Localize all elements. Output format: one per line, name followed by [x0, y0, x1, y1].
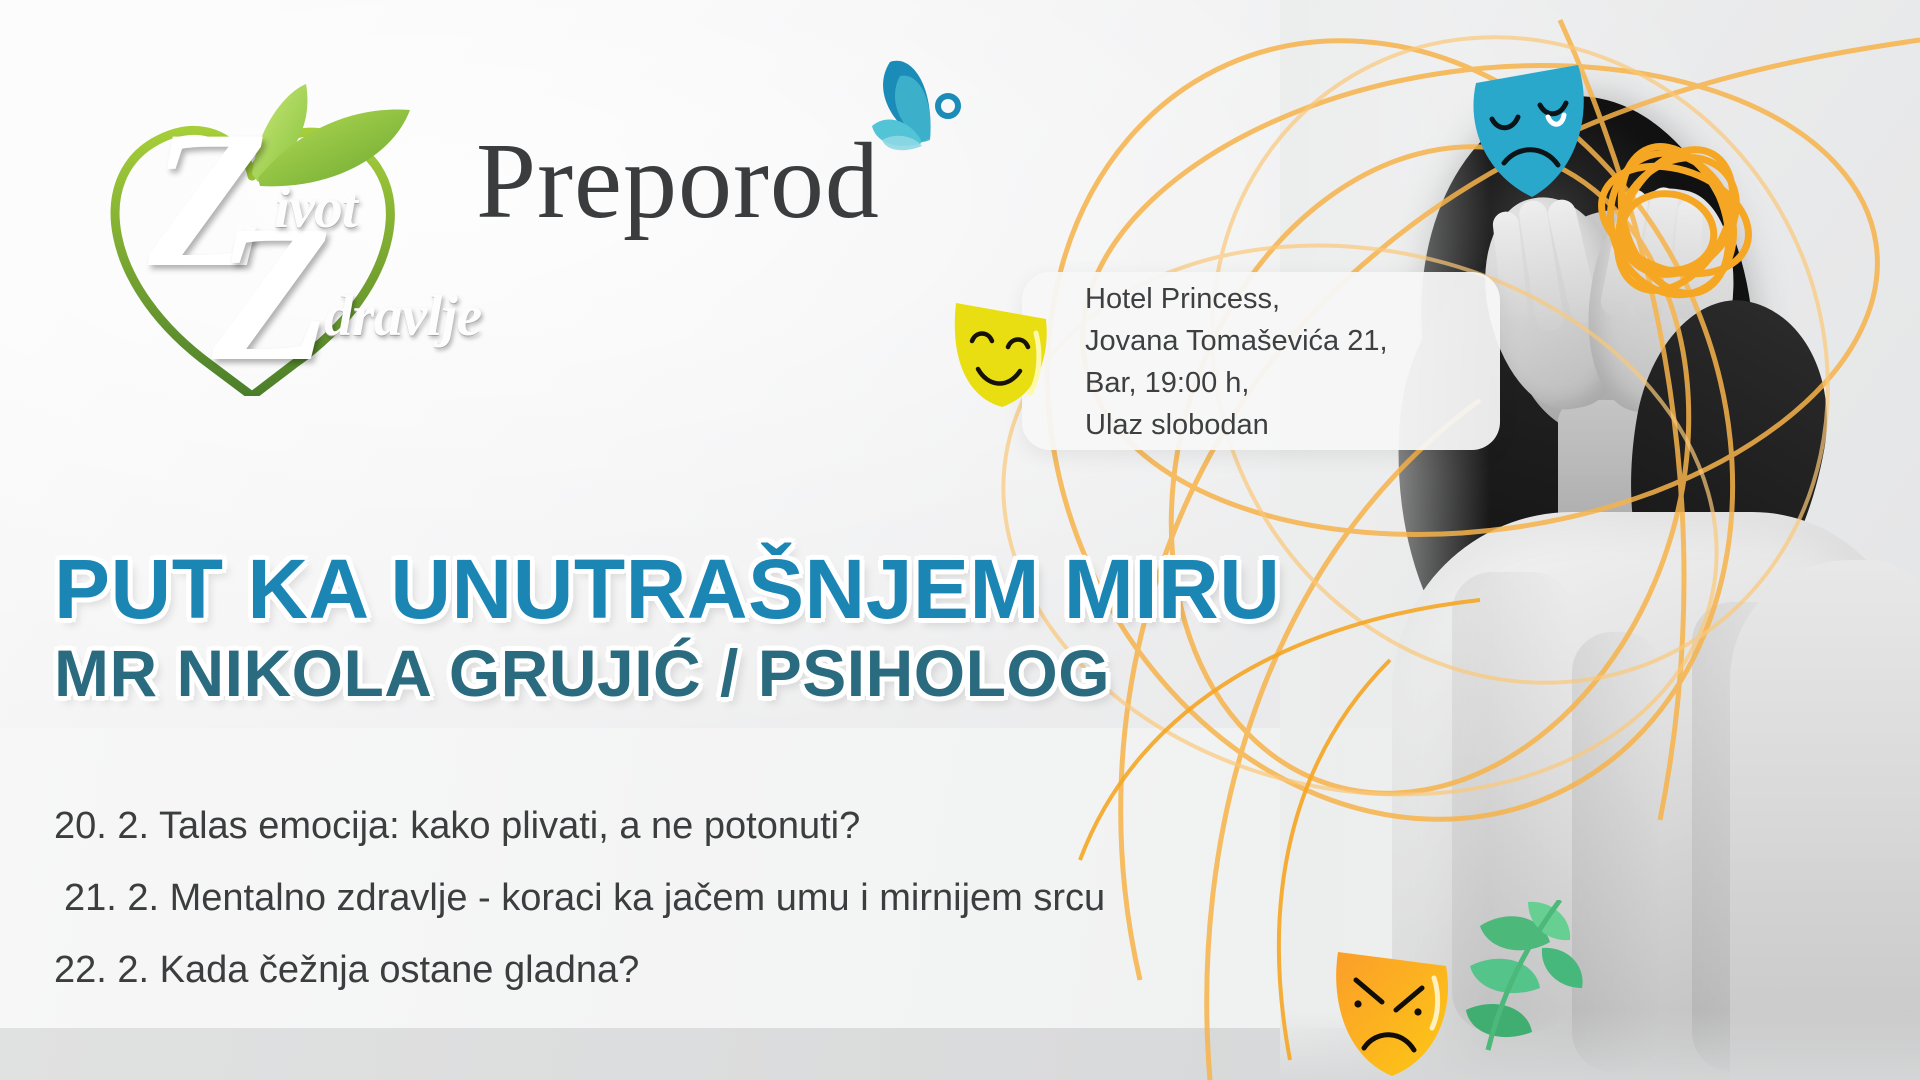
- info-line-3: Bar, 19:00 h,: [1085, 362, 1485, 404]
- poster-canvas: Z Z ivot dravlje Preporod Hotel Princess…: [0, 0, 1920, 1080]
- info-text-block: Hotel Princess, Jovana Tomaševića 21, Ba…: [1085, 278, 1485, 446]
- page-title: PUT KA UNUTRAŠNJEM MIRU: [54, 546, 1280, 632]
- list-item: 21. 2. Mentalno zdravlje - koraci ka jač…: [54, 862, 1324, 934]
- list-item: 20. 2. Talas emocija: kako plivati, a ne…: [54, 790, 1324, 862]
- info-line-2: Jovana Tomaševića 21,: [1085, 320, 1485, 362]
- info-line-1: Hotel Princess,: [1085, 278, 1485, 320]
- logo-zivot-zdravlje: Z Z ivot dravlje: [62, 66, 522, 396]
- sad-mask-icon: [1460, 55, 1600, 207]
- page-subtitle: MR NIKOLA GRUJIĆ / PSIHOLOG: [54, 638, 1280, 708]
- program-list: 20. 2. Talas emocija: kako plivati, a ne…: [54, 790, 1324, 1006]
- arm-shape: [1730, 560, 1920, 1080]
- headline-block: PUT KA UNUTRAŠNJEM MIRU MR NIKOLA GRUJIĆ…: [54, 546, 1280, 708]
- logo-word-zivot: ivot: [274, 174, 357, 241]
- logo-preporod: Preporod: [476, 128, 880, 236]
- butterfly-icon: [868, 46, 978, 154]
- logo-zz-wordmark: Z Z ivot dravlje: [62, 66, 522, 396]
- info-line-4: Ulaz slobodan: [1085, 404, 1485, 446]
- smiling-mask-icon: [946, 285, 1064, 413]
- angry-mask-icon: [1330, 930, 1466, 1080]
- logo-word-zdravlje: dravlje: [324, 282, 481, 349]
- preporod-wordmark: Preporod: [476, 128, 880, 236]
- list-item: 22. 2. Kada čežnja ostane gladna?: [54, 934, 1324, 1006]
